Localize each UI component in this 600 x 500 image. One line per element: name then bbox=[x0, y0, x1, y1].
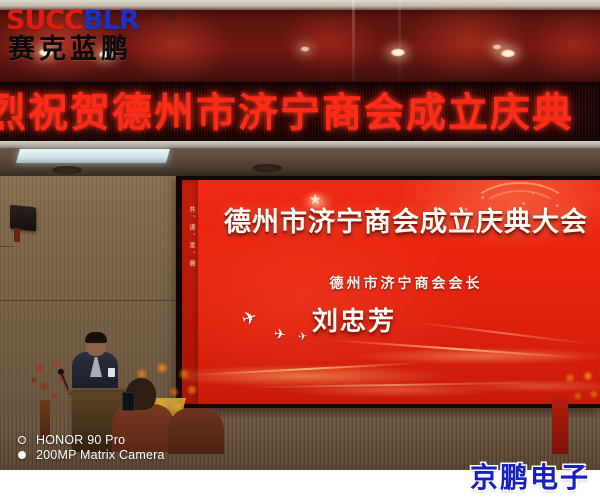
ceiling-light-panel bbox=[16, 149, 170, 163]
speaker-badge bbox=[108, 368, 115, 377]
wall-panel-seam bbox=[0, 246, 14, 247]
ring-icon bbox=[18, 436, 26, 444]
speaker-hair bbox=[85, 332, 107, 343]
camera-spec-text: 200MP Matrix Camera bbox=[36, 448, 165, 462]
registered-trademark-icon: ® bbox=[166, 8, 176, 23]
speaker-mount bbox=[14, 228, 20, 243]
ceiling-ridge bbox=[398, 0, 401, 88]
camera-watermark-line-1: HONOR 90 Pro bbox=[18, 432, 248, 447]
camera-model-text: HONOR 90 Pro bbox=[36, 433, 125, 447]
screen-side-vertical-text: 共、谋、发、展 bbox=[185, 206, 197, 269]
led-banner-text: 烈祝贺德州市济宁商会成立庆典 bbox=[0, 86, 600, 140]
dot-icon bbox=[18, 451, 26, 459]
stage-screen-title: 德州市济宁商会成立庆典大会 bbox=[220, 206, 592, 240]
spotlight-icon bbox=[390, 48, 406, 57]
recessed-light-icon bbox=[52, 166, 82, 174]
golden-ribbon-decoration bbox=[182, 316, 600, 404]
smartphone-icon bbox=[122, 392, 135, 411]
spotlight-icon bbox=[492, 44, 502, 50]
corner-watermark: 京鹏电子 bbox=[470, 462, 590, 494]
logo-text-succ: SUCC bbox=[6, 5, 83, 36]
led-scrolling-banner: 烈祝贺德州市济宁商会成立庆典 bbox=[0, 82, 600, 144]
camera-watermark: HONOR 90 Pro 200MP Matrix Camera bbox=[18, 432, 248, 462]
logo-chinese-wordmark: 赛克蓝鹏 bbox=[8, 35, 132, 65]
camera-watermark-line-2: 200MP Matrix Camera bbox=[18, 447, 248, 462]
stage-led-screen: 共、谋、发、展 德州市济宁商会成立庆典大会 德州市济宁商会会长 ✈ ✈ ✈ 刘忠… bbox=[182, 180, 600, 404]
logo-latin-wordmark: SUCCBLR bbox=[6, 6, 139, 36]
flower-basket-right bbox=[560, 368, 600, 412]
wall-panel-seam bbox=[0, 300, 176, 301]
stage-screen-subtitle: 德州市济宁商会会长 bbox=[220, 274, 592, 294]
spotlight-icon bbox=[500, 49, 516, 58]
photo-canvas: 烈祝贺德州市济宁商会成立庆典 共、谋、发、展 德州市济宁商会成立庆典大会 德州市… bbox=[0, 0, 600, 500]
brand-logo: SUCCBLR ® 赛克蓝鹏 bbox=[6, 6, 206, 64]
logo-text-blr: BLR bbox=[83, 5, 139, 36]
recessed-light-icon bbox=[252, 164, 282, 172]
spotlight-icon bbox=[300, 46, 310, 52]
ceiling-ridge bbox=[352, 0, 355, 88]
